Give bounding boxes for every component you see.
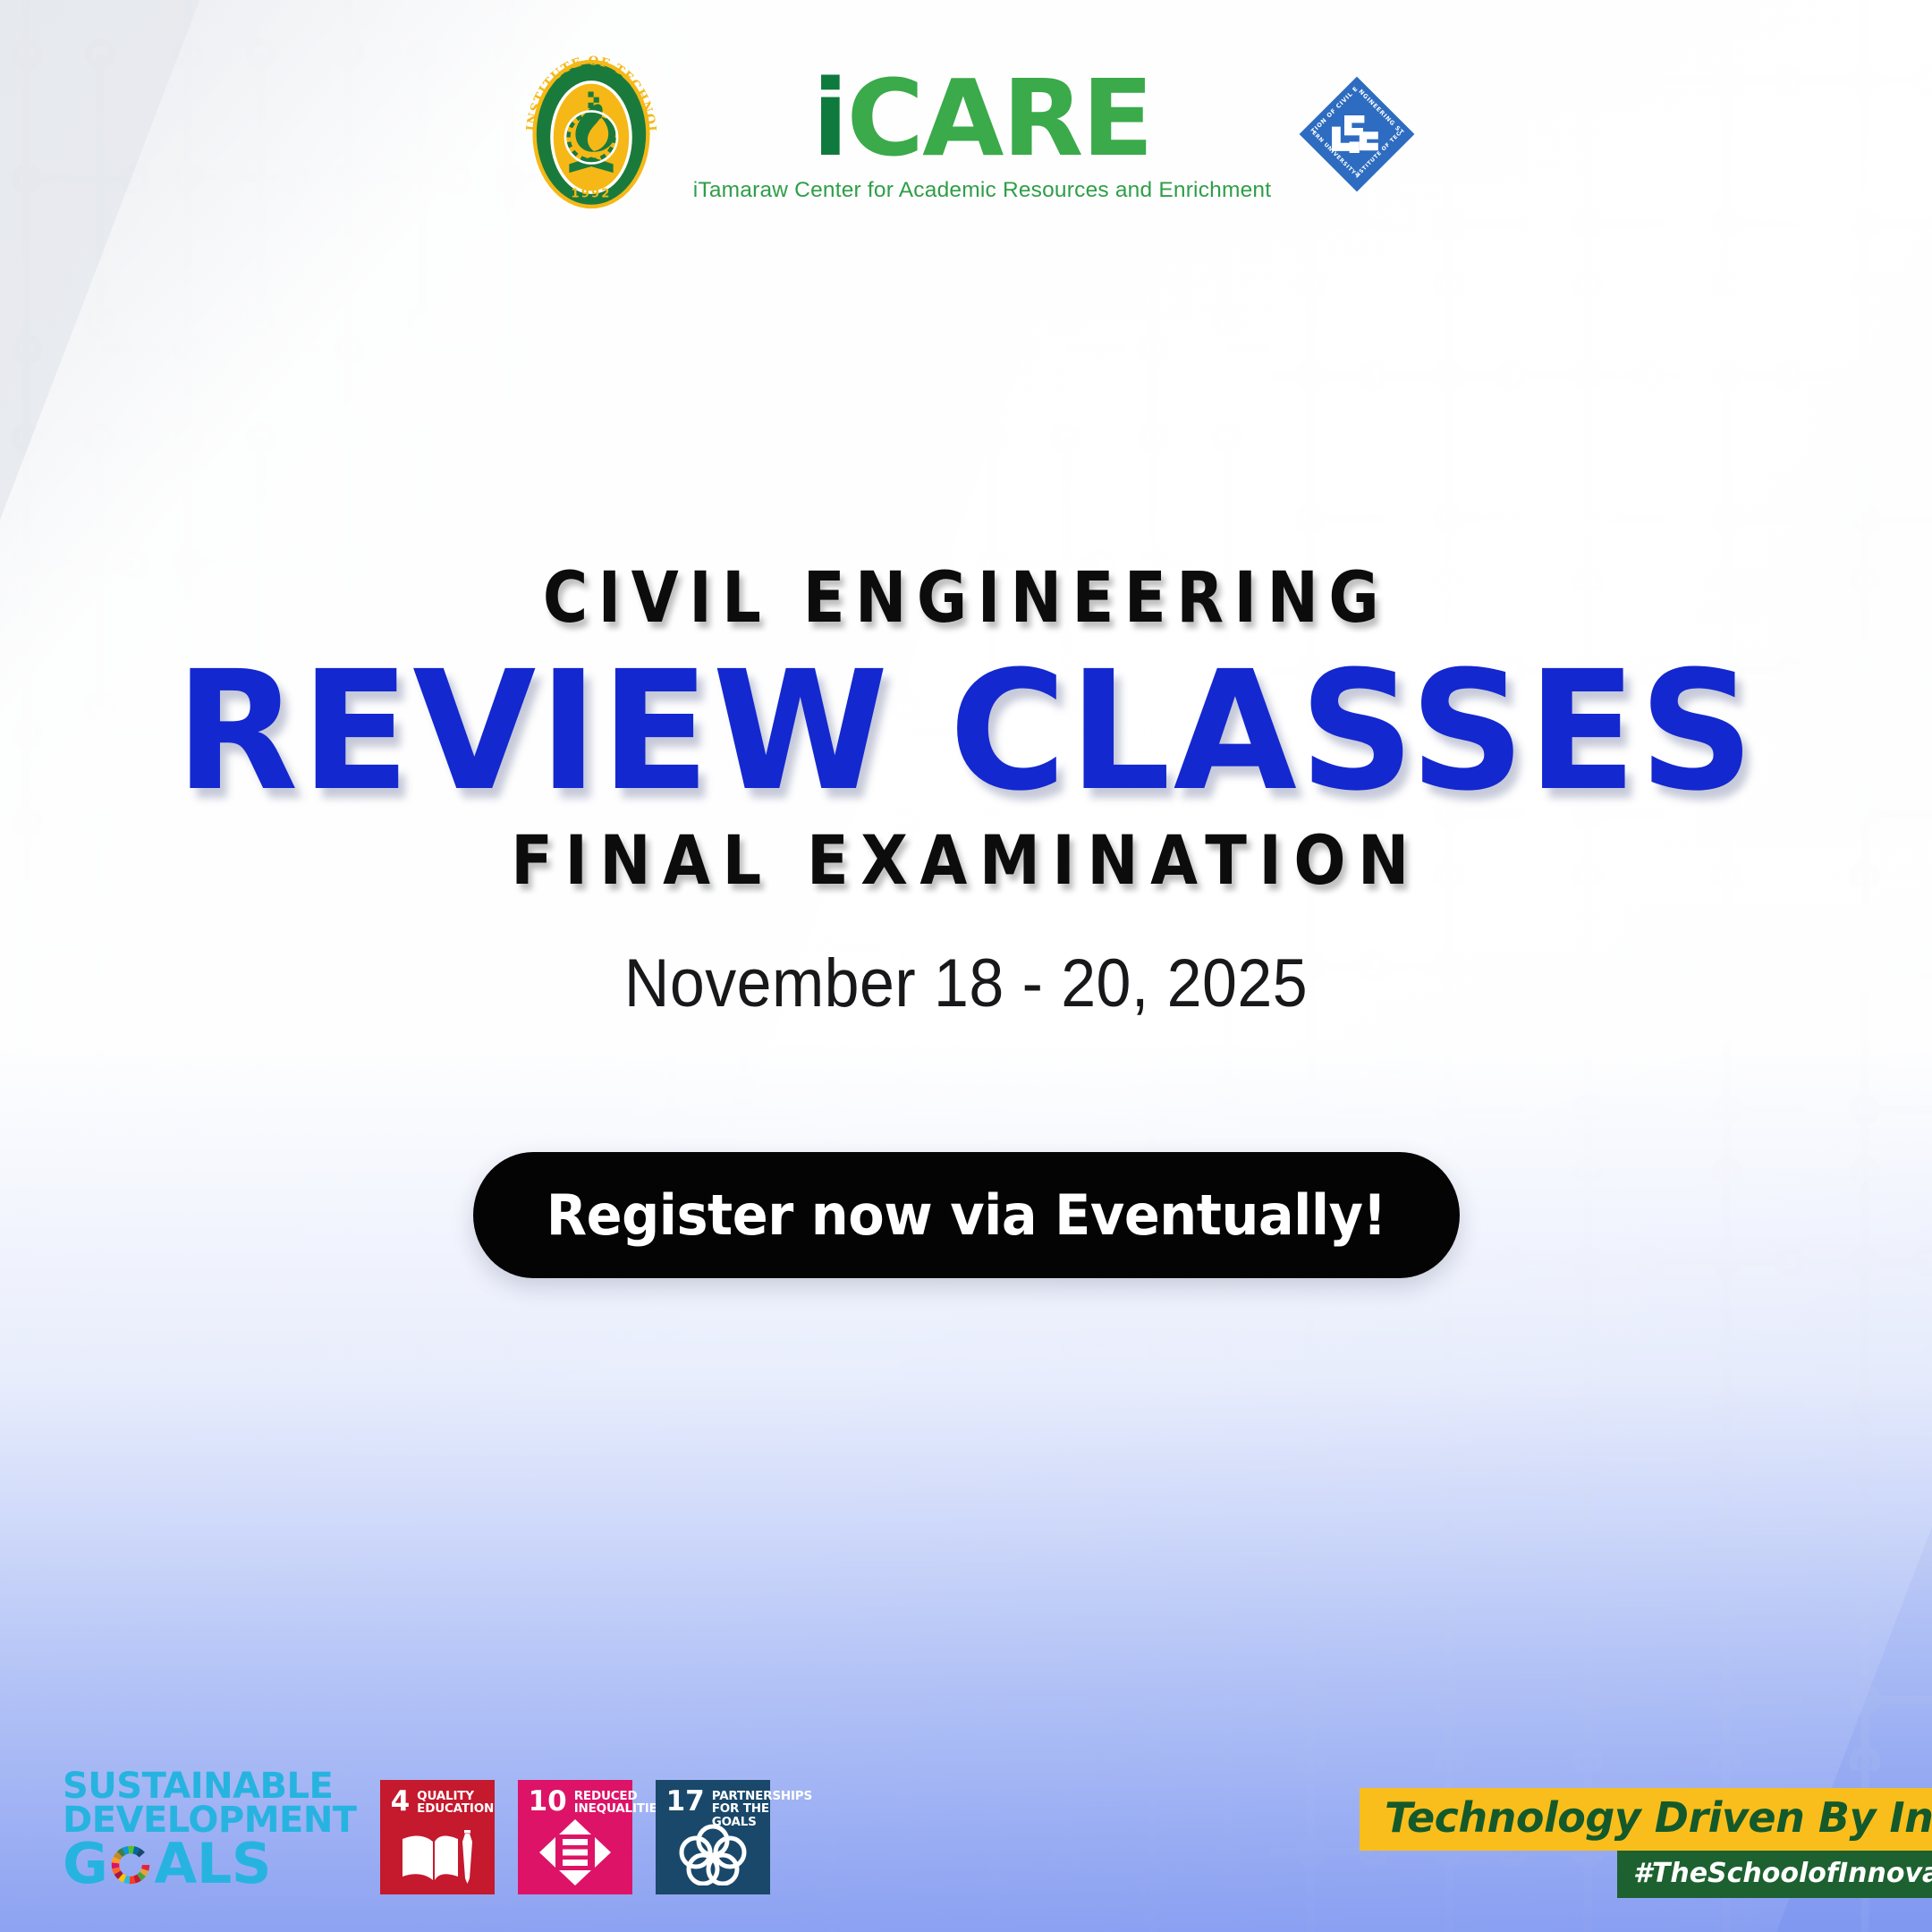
header-logo-row: FEU INSTITUTE OF TECHNOLOGY 1992 iCARE i… — [0, 55, 1932, 213]
event-date: November 18 - 20, 2025 — [77, 945, 1854, 1022]
sdg-goal-4-number: 4 — [391, 1790, 411, 1813]
icare-brand-lockup: iCARE iTamaraw Center for Academic Resou… — [693, 65, 1272, 203]
sdg-color-wheel-icon — [108, 1842, 153, 1886]
sdg-goal-10-number: 10 — [529, 1790, 567, 1813]
tagline-hashtag: #TheSchoolofInnovation — [1617, 1851, 1932, 1898]
icare-letters-care: CARE — [847, 56, 1152, 180]
sdg-goal-17-number: 17 — [666, 1790, 705, 1813]
sdg-goal-4-tile: 4 QUALITY EDUCATION — [380, 1780, 495, 1894]
sdg-goal-17-tile: 17 PARTNERSHIPS FOR THE GOALS — [656, 1780, 770, 1894]
sdg-goal-17-head: 17 PARTNERSHIPS FOR THE GOALS — [656, 1780, 770, 1828]
fit-seal-icon: FEU INSTITUTE OF TECHNOLOGY 1992 — [513, 55, 670, 213]
register-button[interactable]: Register now via Eventually! — [473, 1152, 1460, 1278]
kicker-line: CIVIL ENGINEERING — [116, 563, 1817, 633]
open-book-and-pencil-icon — [380, 1830, 495, 1885]
sdg-goal-10-label: REDUCED INEQUALITIES — [574, 1790, 665, 1816]
main-text-block: CIVIL ENGINEERING REVIEW CLASSES FINAL E… — [0, 563, 1932, 1022]
icare-letter-i: i — [812, 56, 846, 180]
subtitle-line: FINAL EXAMINATION — [97, 826, 1835, 894]
icare-tagline: iTamaraw Center for Academic Resources a… — [693, 178, 1272, 203]
svg-text:1992: 1992 — [571, 187, 611, 200]
sdg-line-1: SUSTAINABLE — [63, 1769, 357, 1803]
poster-canvas: FEU INSTITUTE OF TECHNOLOGY 1992 iCARE i… — [0, 0, 1932, 1932]
sdg-line-3: G — [63, 1837, 357, 1891]
sdg-goal-10-label-line2: INEQUALITIES — [574, 1801, 665, 1816]
sdg-goal-10-tile: 10 REDUCED INEQUALITIES — [518, 1780, 632, 1894]
icare-wordmark: iCARE — [812, 65, 1152, 171]
sdg-goal-4-label: QUALITY EDUCATION — [417, 1790, 494, 1816]
brand-tagline-banner: Technology Driven By Innovation #TheScho… — [1360, 1788, 1932, 1898]
sdg-goal-10-head: 10 REDUCED INEQUALITIES — [518, 1780, 632, 1816]
sdg-footer: SUSTAINABLE DEVELOPMENT G — [63, 1769, 770, 1894]
sdg-goal-4-label-line2: EDUCATION — [417, 1801, 494, 1816]
sdg-goals-g: G — [63, 1837, 107, 1891]
cta-container: Register now via Eventually! — [0, 1152, 1932, 1278]
four-arrows-equals-icon — [518, 1819, 632, 1885]
interlocking-circles-icon — [656, 1823, 770, 1885]
page-title: REVIEW CLASSES — [29, 649, 1902, 814]
aces-diamond-logo-icon: ASSOCIATION OF CIVIL ENGINEERING STUDENT… — [1294, 72, 1419, 197]
sdg-goal-4-head: 4 QUALITY EDUCATION — [380, 1780, 495, 1816]
sdg-goals-als: ALS — [154, 1837, 271, 1891]
tagline-primary: Technology Driven By Innovation — [1360, 1788, 1932, 1851]
sdg-wordmark: SUSTAINABLE DEVELOPMENT G — [63, 1769, 357, 1894]
